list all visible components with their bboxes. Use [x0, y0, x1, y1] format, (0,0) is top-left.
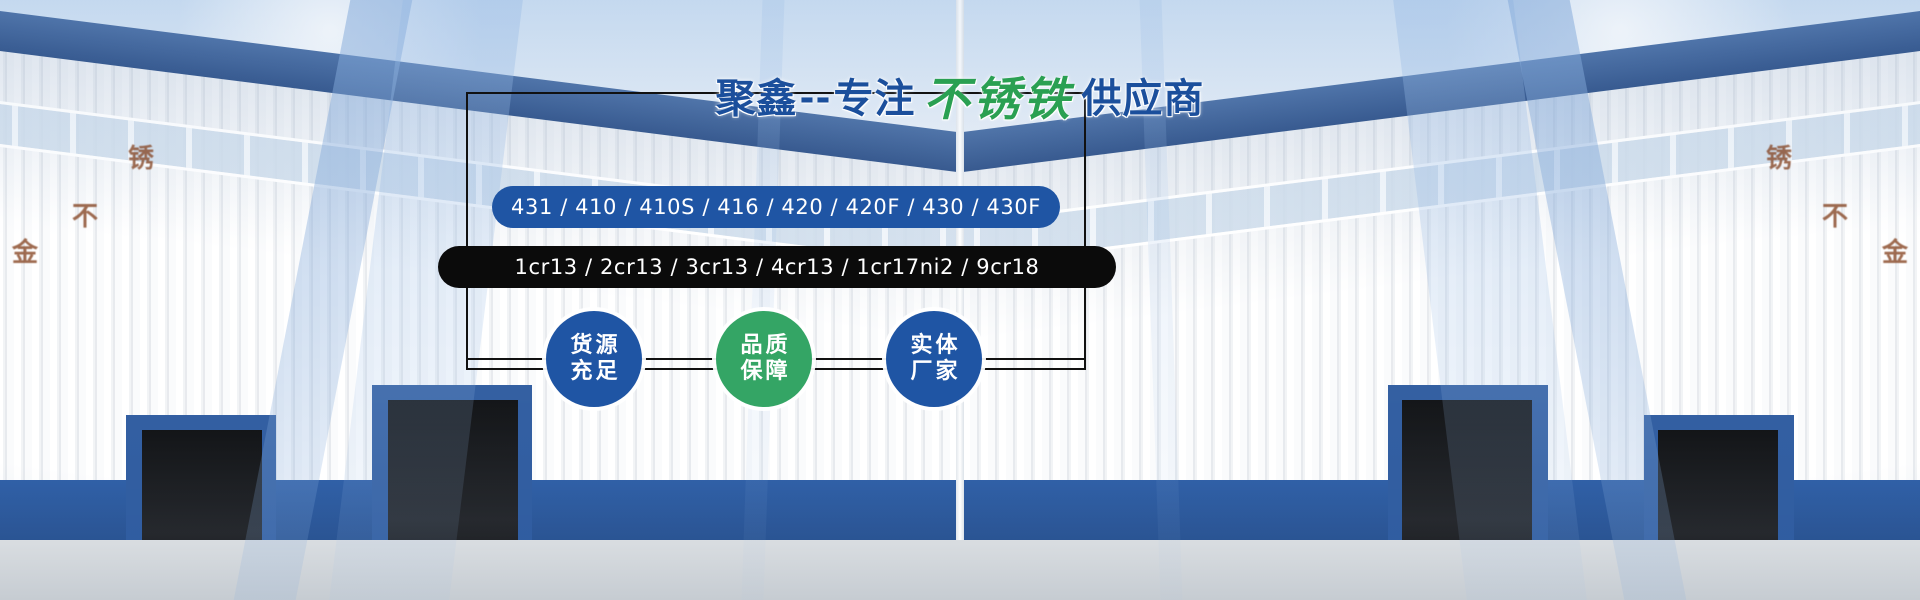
- badge-quality-line2: 保障: [737, 359, 790, 385]
- badge-quality: 品质 保障: [716, 311, 812, 407]
- headline-tail: 供应商: [1081, 79, 1204, 119]
- badge-connector-mid-2: [806, 358, 892, 360]
- badge-connector-mid-1: [636, 358, 722, 360]
- headline-accent: 不锈铁: [915, 76, 1081, 122]
- badge-connector-right: [976, 358, 1086, 360]
- headline: 聚鑫--专注不锈铁供应商: [0, 76, 1920, 122]
- headline-dash: --: [798, 81, 834, 117]
- badge-connector-left: [466, 358, 552, 360]
- badge-supply-line1: 货源: [567, 333, 620, 359]
- grade-bar-secondary-text: 1cr13 / 2cr13 / 3cr13 / 4cr13 / 1cr17ni2…: [514, 255, 1039, 279]
- badge-factory-line2: 厂家: [907, 359, 960, 385]
- badge-factory-line1: 实体: [907, 333, 960, 359]
- badge-supply-line2: 充足: [567, 359, 620, 385]
- badge-supply: 货源 充足: [546, 311, 642, 407]
- headline-lead: 聚鑫: [716, 79, 798, 119]
- promo-banner: 锈 不 金 聚 锈 不 金 聚: [0, 0, 1920, 600]
- banner-content: 聚鑫--专注不锈铁供应商 431 / 410 / 410S / 416 / 42…: [0, 0, 1920, 600]
- grade-bar-primary: 431 / 410 / 410S / 416 / 420 / 420F / 43…: [492, 186, 1060, 228]
- grade-bar-primary-text: 431 / 410 / 410S / 416 / 420 / 420F / 43…: [511, 195, 1041, 219]
- badge-factory: 实体 厂家: [886, 311, 982, 407]
- grade-bar-secondary: 1cr13 / 2cr13 / 3cr13 / 4cr13 / 1cr17ni2…: [438, 246, 1116, 288]
- badge-quality-line1: 品质: [737, 333, 790, 359]
- headline-mid: 专注: [833, 79, 915, 119]
